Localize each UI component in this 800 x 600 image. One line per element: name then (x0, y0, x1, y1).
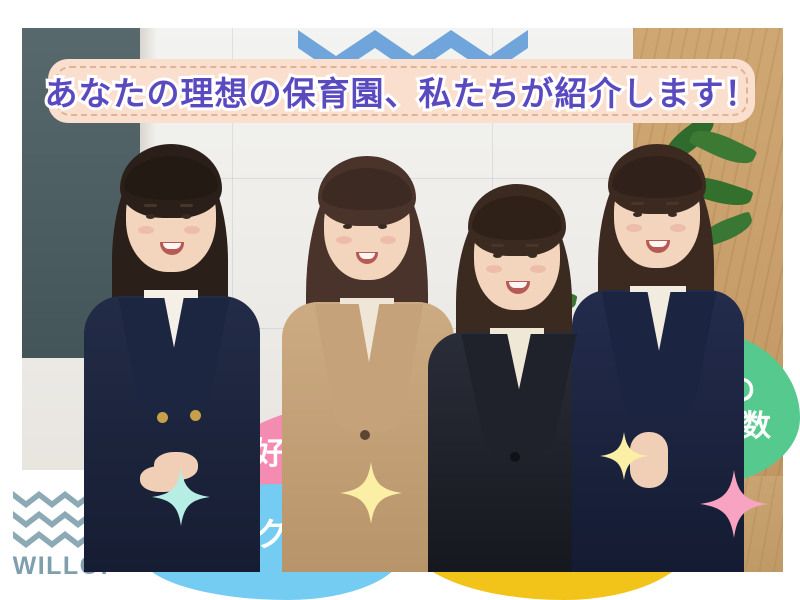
person-1 (68, 122, 268, 572)
headline-text: あなたの理想の保育園、私たちが紹介します！ (45, 67, 759, 115)
headline-banner: あなたの理想の保育園、私たちが紹介します！ (48, 59, 755, 123)
advertisement-banner: WILLOF (0, 0, 800, 600)
person-4 (560, 142, 750, 572)
